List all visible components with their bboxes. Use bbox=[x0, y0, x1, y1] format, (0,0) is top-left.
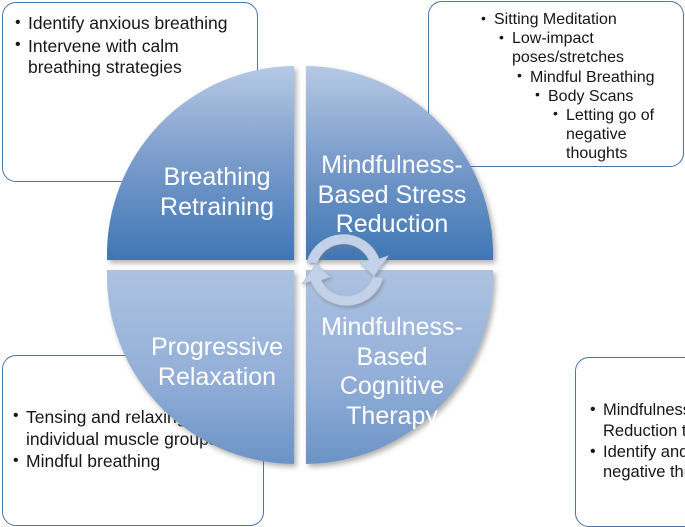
list-item: Letting go of negative thoughts bbox=[553, 106, 671, 164]
list-item: Mindful Breathing bbox=[517, 68, 671, 87]
quadrant-breathing-retraining[interactable] bbox=[107, 66, 294, 260]
diagram-canvas: Identify anxious breathing Intervene wit… bbox=[0, 0, 685, 527]
list-item: Low-impact poses/stretches bbox=[499, 29, 671, 67]
cycle-circle: Breathing Retraining Mindfulness- Based … bbox=[107, 23, 501, 498]
list-item: Sitting Meditation bbox=[481, 10, 671, 29]
list-item: Identify and neutralize negative thinkin… bbox=[590, 442, 685, 483]
quadrants-svg bbox=[107, 23, 501, 498]
quadrant-mbsr[interactable] bbox=[306, 66, 493, 260]
list-item: Body Scans bbox=[535, 87, 671, 106]
quadrant-progressive-relaxation[interactable] bbox=[107, 270, 294, 464]
quadrant-mbct[interactable] bbox=[306, 270, 493, 464]
list-item: Mindfulness-based Stress Reduction techn… bbox=[590, 400, 685, 441]
callout-bottom-right-list: Mindfulness-based Stress Reduction techn… bbox=[590, 400, 685, 484]
callout-bottom-right[interactable]: Mindfulness-based Stress Reduction techn… bbox=[575, 357, 685, 527]
